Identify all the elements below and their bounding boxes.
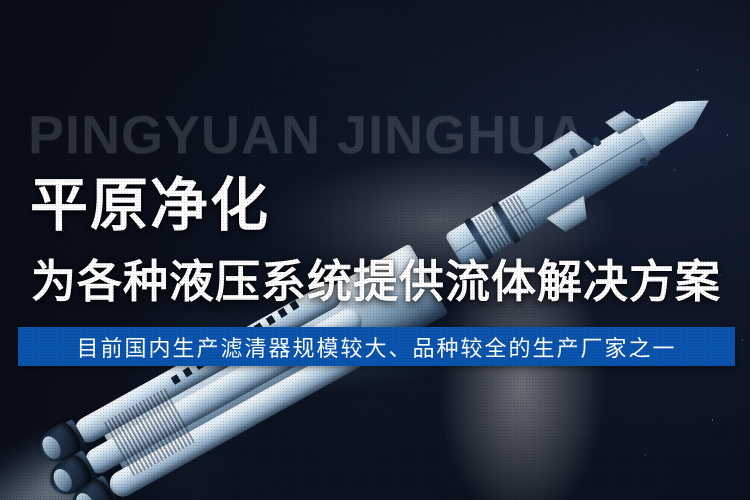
subheadline-slogan: 为各种液压系统提供流体解决方案: [31, 257, 721, 307]
tagline-text: 目前国内生产滤清器规模较大、品种较全的生产厂家之一: [76, 331, 676, 363]
tagline-bar: 目前国内生产滤清器规模较大、品种较全的生产厂家之一: [18, 327, 735, 366]
headline-company-name: 平原净化: [30, 176, 270, 237]
hero-banner: PINGYUAN JINGHUA 平原净化 为各种液压系统提供流体解决方案 目前…: [0, 0, 750, 500]
watermark-pinyin: PINGYUAN JINGHUA: [28, 108, 750, 162]
